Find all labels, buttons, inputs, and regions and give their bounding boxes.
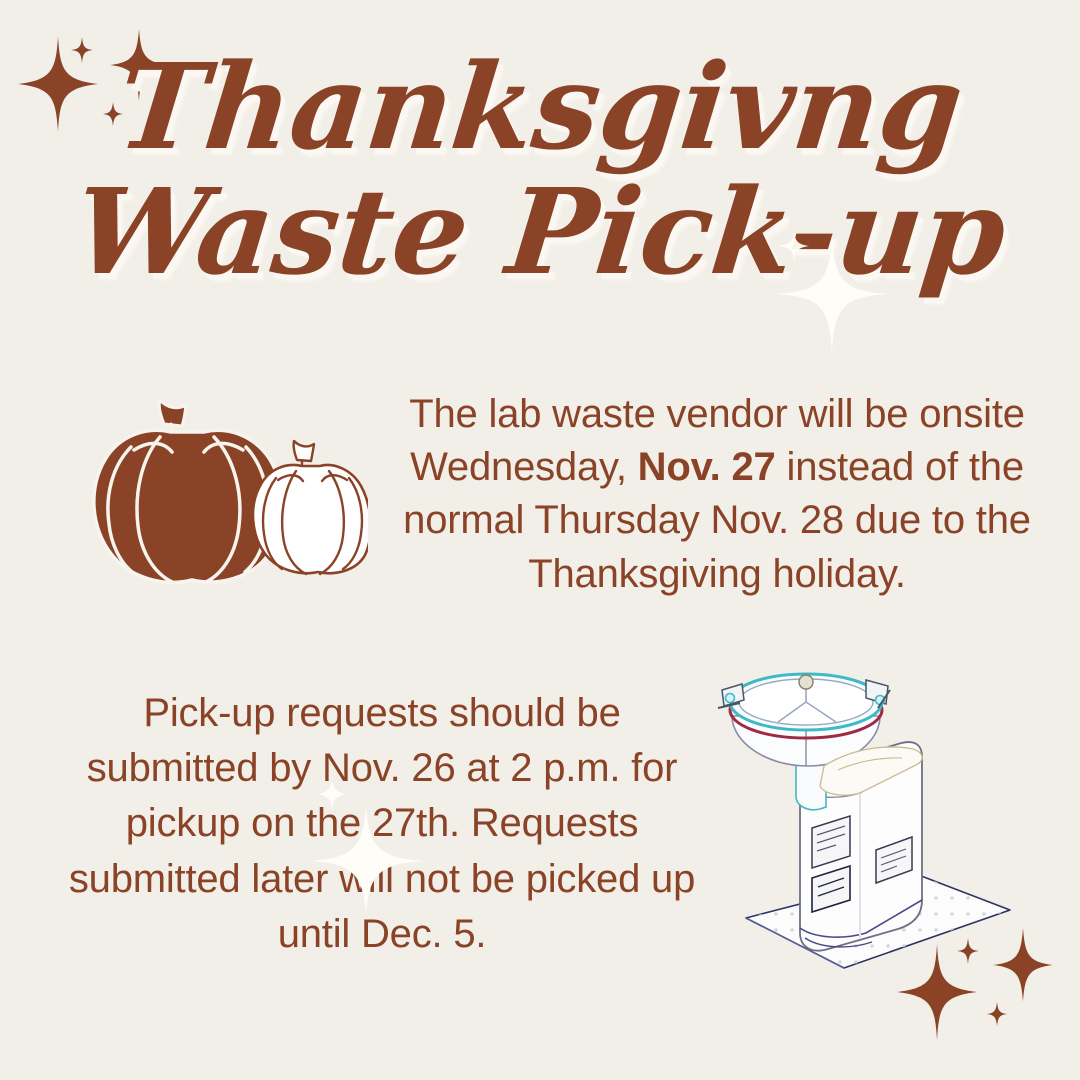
sparkle-cluster-top-left — [8, 14, 198, 164]
paragraph-one: The lab waste vendor will be onsite Wedn… — [392, 388, 1042, 601]
paragraph-two: Pick-up requests should be submitted by … — [62, 686, 702, 962]
large-pumpkin — [94, 400, 283, 582]
sparkle-group-icon — [8, 14, 198, 164]
pumpkins-illustration — [68, 392, 368, 597]
white-sparkle-title-icon — [770, 228, 900, 358]
two-pumpkins-icon — [68, 392, 368, 597]
sparkle-tiny-upper-icon — [71, 37, 93, 63]
sparkle-group-icon — [885, 916, 1070, 1066]
sparkle-tiny-lower-icon — [103, 102, 123, 126]
sparkle-medium-icon — [110, 29, 168, 101]
sparkle-cluster-bottom-right — [885, 916, 1070, 1066]
poster-canvas: Thanksgivng Waste Pick-up — [0, 0, 1080, 1080]
sparkle-large-icon — [897, 944, 977, 1040]
sparkle-tiny-lower-icon — [987, 1002, 1007, 1026]
sparkle-medium-icon — [993, 928, 1053, 1002]
paragraph-one-bold-date: Nov. 27 — [638, 445, 776, 489]
sparkle-tiny-upper-icon — [957, 938, 979, 964]
title-line-2: Waste Pick-up — [0, 166, 1080, 298]
